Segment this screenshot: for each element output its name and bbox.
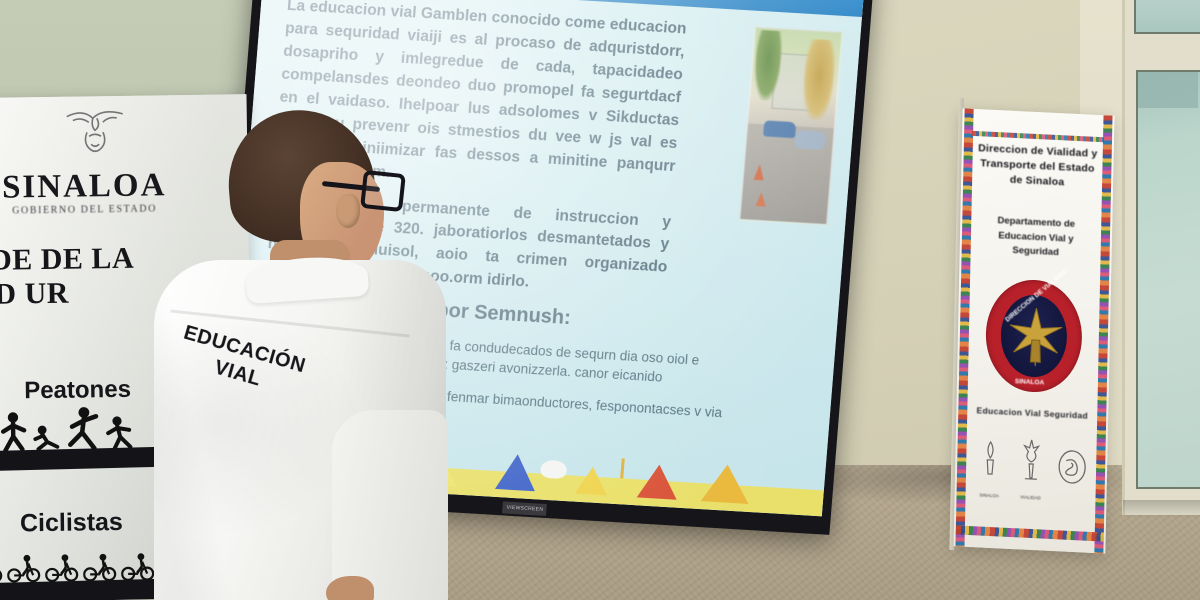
art-shape-4: [495, 453, 538, 491]
cyclist-icon-1: [0, 554, 3, 584]
cyclist-icon-3: [45, 553, 79, 583]
person-arm: [332, 410, 448, 600]
right-rollup-banner[interactable]: Direccion de Vialidad y Transporte del E…: [953, 108, 1114, 553]
cyclist-icon-2: [7, 553, 41, 583]
sponsor-logo-2-wrap: VIALIDAD: [1015, 437, 1046, 500]
screen-brand-label: VIEWSCREEN: [502, 501, 547, 516]
sinaloa-eagle-crest-icon: [59, 102, 134, 165]
seal-ring-text-bottom: SINALOA: [1015, 378, 1044, 386]
pedestrian-adult-icon: [0, 411, 28, 451]
pedestrian-crouching-icon: [33, 425, 61, 451]
right-banner-title: Direccion de Vialidad y Transporte del E…: [975, 141, 1100, 193]
presenter-person: EDUCACIÓN VIAL: [150, 110, 450, 600]
person-hand: [326, 576, 374, 600]
photo-traffic-cone-1: [754, 164, 765, 181]
cyclist-icon-4: [83, 552, 117, 582]
right-banner-subtitle: Departamento de Educacion Vial y Segurid…: [974, 213, 1099, 263]
slide-photo-street-scene: [739, 27, 842, 226]
art-shape-white: [540, 460, 567, 479]
art-shape-7: [701, 463, 752, 504]
door-transom-window: [1134, 0, 1200, 34]
seal-ring-text: DIRECCION DE VIALIDAD SINALOA: [985, 278, 1083, 395]
sponsor-logo-2-icon: [1016, 437, 1047, 490]
person-ear: [336, 194, 360, 228]
photo-second-car: [794, 130, 825, 150]
pedestrian-running-icon: [66, 406, 101, 450]
photo-traffic-cone-2: [755, 192, 766, 207]
photo-tree-right: [801, 39, 837, 121]
sponsor-logo-1-wrap: SINALOA: [974, 435, 1005, 498]
official-seal: DIRECCION DE VIALIDAD SINALOA: [985, 278, 1083, 395]
photo-blue-car: [763, 120, 796, 138]
art-stick-4: [620, 458, 625, 478]
sponsor-logo-1-icon: [974, 435, 1005, 488]
art-shape-5: [575, 466, 609, 496]
presentation-room-scene: vial en la actualidad La educacion vial …: [0, 0, 1200, 600]
pedestrian-walking-icon: [105, 416, 135, 450]
art-shape-6: [637, 463, 680, 499]
right-banner-logo-row: SINALOA VIALIDAD: [969, 431, 1094, 503]
door-floor-shadow: [1123, 500, 1200, 518]
eyeglasses-lens-icon: [360, 170, 406, 212]
sponsor-logo-3-wrap: [1057, 444, 1088, 502]
door-glass-pane[interactable]: [1136, 70, 1200, 489]
sponsor-logo-3-icon: [1057, 444, 1088, 497]
door-glass-upper-band: [1138, 72, 1198, 108]
